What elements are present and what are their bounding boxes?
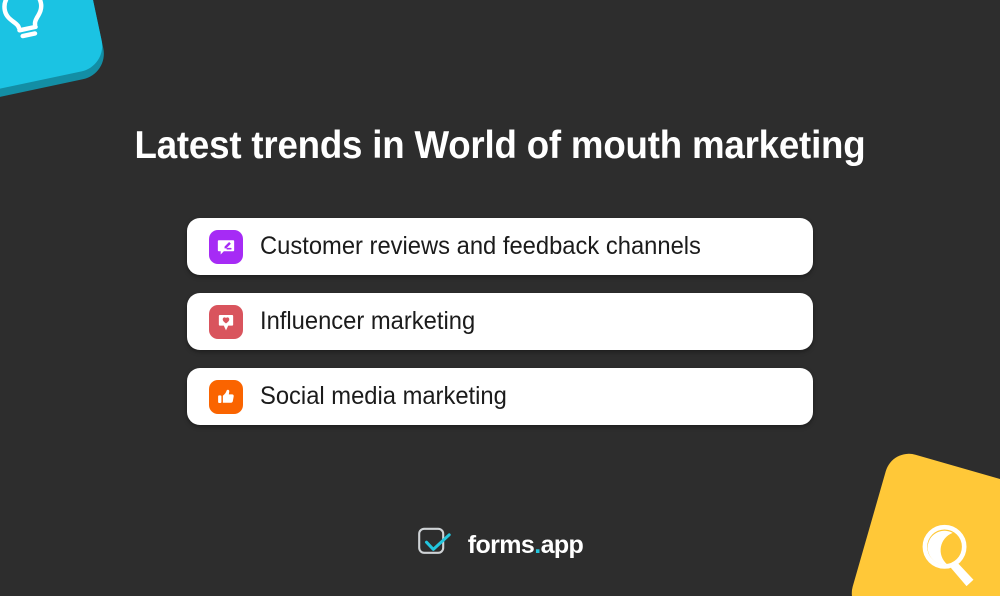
list-item-label: Social media marketing bbox=[260, 382, 507, 411]
list-item[interactable]: Influencer marketing bbox=[187, 293, 813, 350]
brand-name: forms.app bbox=[468, 531, 583, 560]
comment-edit-icon bbox=[209, 230, 243, 264]
forms-app-check-icon bbox=[417, 527, 457, 563]
list-item-label: Customer reviews and feedback channels bbox=[260, 232, 701, 261]
brand-name-last: app bbox=[541, 531, 584, 559]
page-title: Latest trends in World of mouth marketin… bbox=[30, 124, 970, 168]
poster-canvas: Latest trends in World of mouth marketin… bbox=[0, 0, 1000, 596]
brand-logo: forms.app bbox=[0, 527, 1000, 563]
list-item-label: Influencer marketing bbox=[260, 307, 475, 336]
decoration-bottom-right bbox=[846, 448, 1000, 596]
thumbs-up-icon bbox=[209, 380, 243, 414]
decoration-top-left bbox=[0, 0, 107, 95]
list-item[interactable]: Social media marketing bbox=[187, 368, 813, 425]
list-item[interactable]: Customer reviews and feedback channels bbox=[187, 218, 813, 275]
brand-name-first: forms bbox=[468, 531, 534, 559]
comment-heart-icon bbox=[209, 305, 243, 339]
trend-list: Customer reviews and feedback channels I… bbox=[187, 218, 813, 425]
